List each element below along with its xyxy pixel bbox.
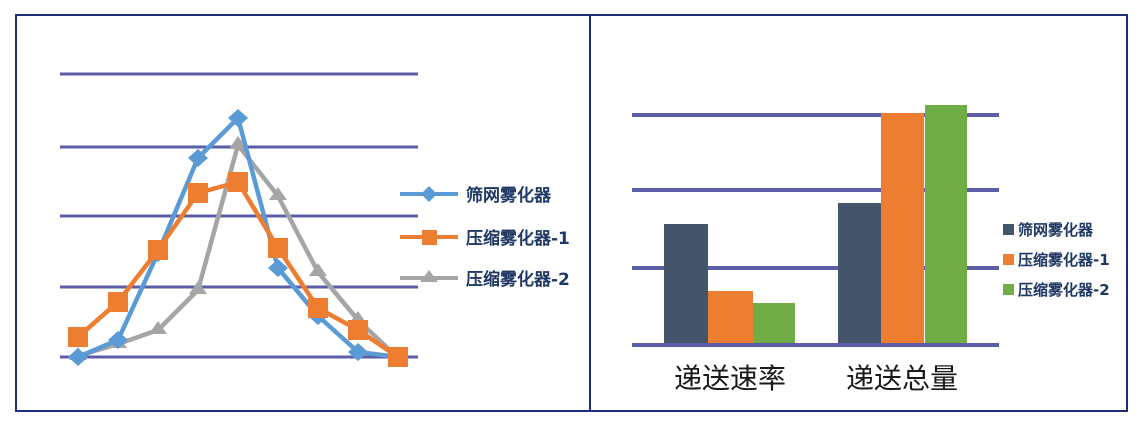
square-marker [388,347,408,367]
left-chart-panel: 筛网雾化器 压缩雾化器-1 压缩雾化器-2 [0,0,590,426]
legend-item-label: 压缩雾化器-2 [1018,281,1110,299]
bar-compressor-1[interactable] [708,291,753,345]
right-chart-legend: 筛网雾化器 压缩雾化器-1 压缩雾化器-2 [1003,221,1110,299]
legend-item-mesh-nebulizer[interactable]: 筛网雾化器 [400,185,552,206]
bar-compressor-2[interactable] [753,303,795,345]
square-marker [422,230,437,245]
line-chart-svg: 筛网雾化器 压缩雾化器-1 压缩雾化器-2 [0,0,590,426]
category-labels: 递送速率 递送总量 [674,362,958,395]
legend-item-label: 压缩雾化器-1 [466,228,570,249]
legend-item-label: 筛网雾化器 [466,185,552,206]
legend-item-mesh-nebulizer[interactable]: 筛网雾化器 [1003,221,1094,239]
bar-mesh-nebulizer[interactable] [664,224,708,345]
diamond-marker [421,186,437,202]
legend-item-compressor-1[interactable]: 压缩雾化器-1 [1003,251,1110,269]
figure-root: 筛网雾化器 压缩雾化器-1 压缩雾化器-2 [0,0,1143,426]
legend-item-compressor-1[interactable]: 压缩雾化器-1 [400,228,570,249]
square-swatch [1003,224,1014,235]
left-chart-legend: 筛网雾化器 压缩雾化器-1 压缩雾化器-2 [400,185,570,290]
square-swatch [1003,284,1014,295]
diamond-marker [68,348,88,366]
legend-item-compressor-2[interactable]: 压缩雾化器-2 [400,269,570,290]
bar-group-delivery-rate [664,224,795,345]
square-swatch [1003,254,1014,265]
square-marker [108,292,128,312]
bar-mesh-nebulizer[interactable] [838,203,881,345]
triangle-marker [309,263,327,276]
square-marker [228,172,248,192]
bar-compressor-2[interactable] [925,105,967,345]
bar-group-delivery-total [838,105,967,345]
square-marker [268,238,288,258]
square-marker [148,240,168,260]
bar-chart-svg: 递送速率 递送总量 筛网雾化器 压缩雾化器-1 压缩雾化器-2 [590,0,1143,426]
category-label-delivery-total: 递送总量 [846,362,958,395]
legend-item-compressor-2[interactable]: 压缩雾化器-2 [1003,281,1110,299]
category-label-delivery-rate: 递送速率 [674,362,786,395]
bar-compressor-1[interactable] [881,113,924,345]
square-marker [348,320,368,340]
right-chart-panel: 递送速率 递送总量 筛网雾化器 压缩雾化器-1 压缩雾化器-2 [590,0,1143,426]
legend-item-label: 压缩雾化器-1 [1018,251,1110,269]
square-marker [188,183,208,203]
legend-item-label: 筛网雾化器 [1018,221,1094,239]
square-marker [68,327,88,347]
square-marker [308,298,328,318]
legend-item-label: 压缩雾化器-2 [466,269,570,290]
